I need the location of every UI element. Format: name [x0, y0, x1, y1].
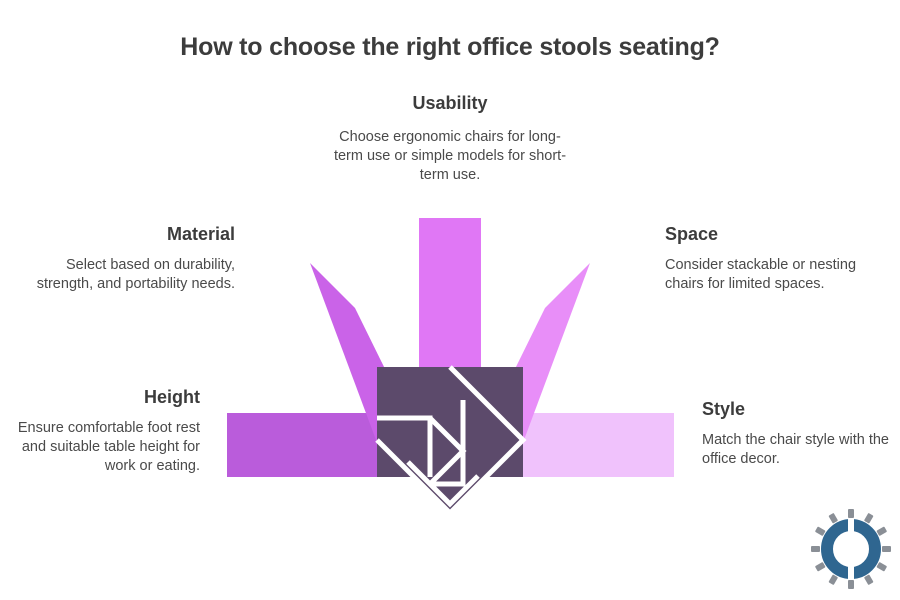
section-style-body: Match the chair style with the office de…	[702, 431, 897, 469]
section-space-heading: Space	[665, 225, 880, 245]
logo-split-bottom	[848, 566, 854, 579]
section-space: Space Consider stackable or nesting chai…	[665, 225, 880, 294]
arrow-square-outline	[377, 418, 430, 477]
arrow-diamond-outline	[377, 367, 523, 513]
infographic-canvas: How to choose the right office stools se…	[0, 0, 900, 600]
bar-style	[521, 413, 674, 477]
split-ring-logo	[808, 508, 894, 590]
section-style: Style Match the chair style with the off…	[702, 400, 897, 469]
hub-diamond	[377, 367, 523, 513]
section-height-body: Ensure comfortable foot rest and suitabl…	[10, 419, 200, 476]
section-material-heading: Material	[20, 225, 235, 245]
hub-square	[377, 367, 523, 477]
section-style-heading: Style	[702, 400, 897, 420]
section-height: Height Ensure comfortable foot rest and …	[10, 388, 200, 476]
bar-height	[227, 413, 380, 477]
section-height-heading: Height	[10, 388, 200, 408]
arrow-chevron	[430, 418, 463, 484]
section-usability-body: Choose ergonomic chairs for long-term us…	[330, 128, 570, 185]
section-usability: Usability Choose ergonomic chairs for lo…	[330, 94, 570, 185]
section-material-body: Select based on durability, strength, an…	[20, 256, 235, 294]
logo-ring	[827, 525, 875, 573]
arrow-shaft	[430, 400, 463, 484]
arrow-notch	[408, 462, 478, 504]
bar-usability	[419, 218, 481, 440]
section-usability-heading: Usability	[330, 94, 570, 114]
bar-material	[310, 263, 420, 440]
section-space-body: Consider stackable or nesting chairs for…	[665, 256, 880, 294]
central-graphic	[0, 0, 900, 600]
section-material: Material Select based on durability, str…	[20, 225, 235, 294]
logo-split-top	[848, 519, 854, 532]
bar-space	[480, 263, 590, 440]
page-title: How to choose the right office stools se…	[0, 33, 900, 62]
